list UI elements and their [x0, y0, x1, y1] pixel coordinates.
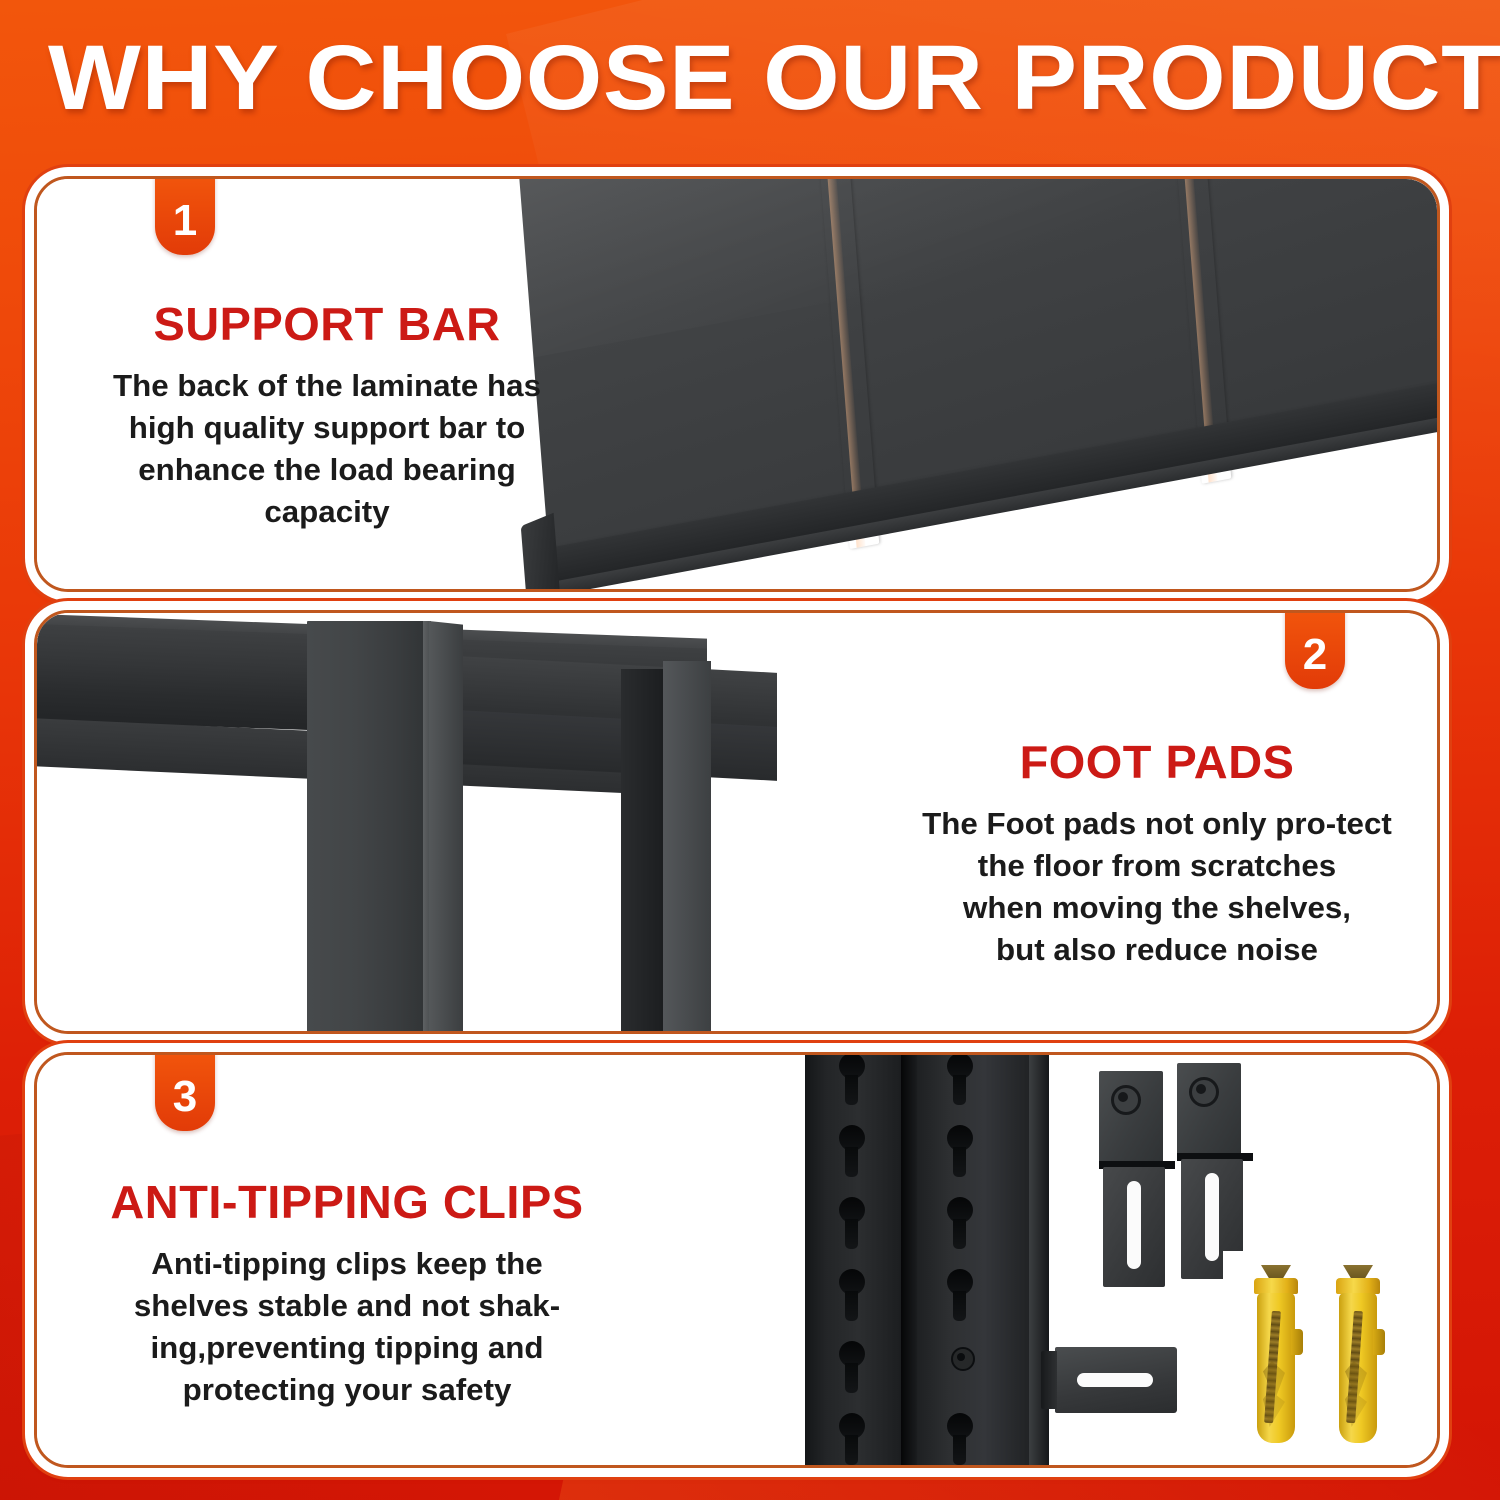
page-title: WHY CHOOSE OUR PRODUCT — [48, 26, 1500, 130]
post-keyhole-slot — [839, 1125, 865, 1177]
post-keyhole-slot — [839, 1197, 865, 1249]
shelf-panel-illustration — [477, 179, 1437, 589]
shelf-leg-rear — [663, 661, 711, 1031]
post-keyhole-slot — [947, 1055, 973, 1105]
post-screw-hole — [951, 1347, 975, 1371]
post-keyhole-slot — [839, 1341, 865, 1393]
feature-card-3-inner: ANTI-TIPPING CLIPS Anti-tipping clips ke… — [37, 1055, 1437, 1465]
feature-1-text-block: SUPPORT BAR The back of the laminate has… — [77, 297, 577, 533]
post-keyhole-slot — [947, 1125, 973, 1177]
feature-card-anti-tipping-clips: ANTI-TIPPING CLIPS Anti-tipping clips ke… — [34, 1052, 1440, 1468]
anchor-screw-head — [1261, 1265, 1291, 1279]
anchor-wing — [1291, 1329, 1303, 1355]
clip-screw-hole — [1189, 1077, 1219, 1107]
feature-3-body: Anti-tipping clips keep the shelves stab… — [64, 1243, 630, 1411]
shelf-leg-side — [429, 621, 463, 1031]
step-number-badge-3: 3 — [155, 1052, 215, 1131]
feature-3-heading: ANTI-TIPPING CLIPS — [61, 1175, 632, 1229]
clip-screw-hole — [1111, 1085, 1141, 1115]
post-center-ridge — [901, 1055, 917, 1465]
post-face-left — [805, 1055, 901, 1465]
feature-card-2-inner: FOOT PADS The Foot pads not only pro-tec… — [37, 613, 1437, 1031]
feature-1-body: The back of the laminate has high qualit… — [75, 365, 580, 533]
post-keyhole-slot — [839, 1055, 865, 1105]
step-number-badge-1: 1 — [155, 176, 215, 255]
feature-card-foot-pads: FOOT PADS The Foot pads not only pro-tec… — [34, 610, 1440, 1034]
shelf-highlight — [517, 179, 1437, 358]
post-keyhole-slot — [947, 1269, 973, 1321]
post-face-right — [917, 1055, 1029, 1465]
wall-anchor-group — [1223, 1251, 1437, 1465]
anchor-collar — [1254, 1278, 1298, 1294]
feature-2-body: The Foot pads not only pro-tect the floo… — [874, 803, 1437, 971]
clip-adjustment-slot — [1127, 1181, 1141, 1269]
clip-lower-plate — [1103, 1167, 1165, 1287]
shelf-leg-rear-dark — [621, 669, 663, 1031]
anchor-wing — [1373, 1329, 1385, 1355]
anti-tipping-clip-left — [1099, 1071, 1163, 1163]
clip-upper-plate — [1099, 1071, 1163, 1163]
clip-adjustment-slot — [1205, 1173, 1219, 1261]
post-keyhole-slot — [839, 1413, 865, 1465]
shelf-panel — [517, 179, 1437, 550]
clip-upper-plate — [1177, 1063, 1241, 1155]
feature-2-text-block: FOOT PADS The Foot pads not only pro-tec… — [877, 735, 1437, 971]
anchor-collar — [1336, 1278, 1380, 1294]
anchor-screw-head — [1343, 1265, 1373, 1279]
infographic-page: WHY CHOOSE OUR PRODUCT — [0, 0, 1500, 1500]
slotted-upright-post — [805, 1055, 1055, 1465]
shelf-leg-illustration — [37, 613, 787, 1031]
anti-tipping-clip-right — [1177, 1063, 1241, 1155]
step-number-badge-2: 2 — [1285, 610, 1345, 689]
feature-2-heading: FOOT PADS — [871, 735, 1437, 789]
feature-3-text-block: ANTI-TIPPING CLIPS Anti-tipping clips ke… — [67, 1175, 627, 1411]
anti-tipping-clip-mounted-on-post — [1055, 1347, 1177, 1413]
clip-mounted-slot — [1077, 1373, 1153, 1387]
shelf-leg-front — [307, 621, 429, 1031]
clip-mounted-plate — [1055, 1347, 1177, 1413]
post-keyhole-slot — [947, 1413, 973, 1465]
post-keyhole-slot — [839, 1269, 865, 1321]
feature-card-support-bar: SUPPORT BAR The back of the laminate has… — [34, 176, 1440, 592]
clip-mount-tab — [1041, 1351, 1057, 1409]
feature-card-1-inner: SUPPORT BAR The back of the laminate has… — [37, 179, 1437, 589]
feature-1-heading: SUPPORT BAR — [72, 297, 582, 351]
post-keyhole-slot — [947, 1197, 973, 1249]
